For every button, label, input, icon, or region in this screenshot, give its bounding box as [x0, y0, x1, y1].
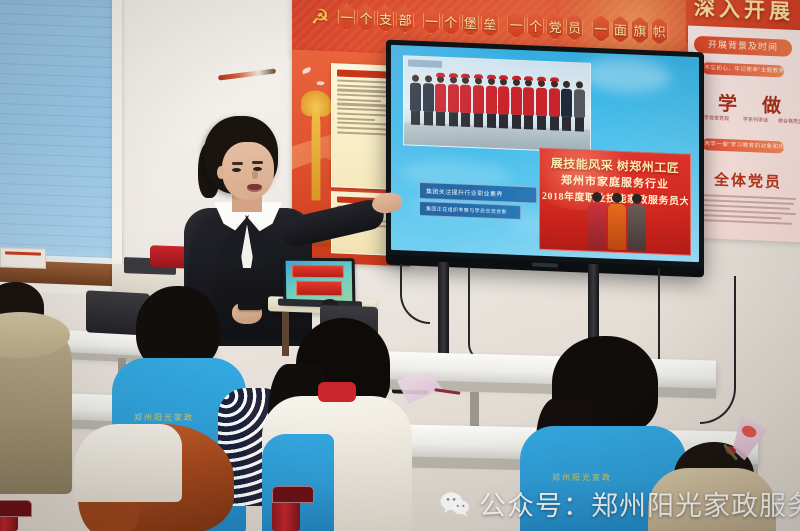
slogan-char: 党: [546, 12, 563, 40]
tv-screen: 展技能风采 树郑州工匠 郑州市家庭服务行业 2018年度职业技能家政服务员大赛 …: [391, 45, 699, 262]
window-blind: [0, 0, 118, 286]
slogan-char: 旗: [631, 16, 648, 44]
red-thermos-2: [0, 500, 18, 531]
poster-subhead: 全体党员: [702, 168, 794, 193]
slogan-char: 一: [507, 11, 524, 39]
vest-text-2: 郑州阳光家政: [552, 472, 612, 483]
slogan-char: 支: [377, 5, 394, 33]
poster-paragraph: [696, 194, 800, 228]
slogan-char: 帜: [651, 17, 668, 45]
right-banner-headline: 深入开展: [694, 0, 794, 26]
presenter-mouth: [247, 184, 262, 192]
window-frame: [112, 0, 122, 290]
slogan-char: 垒: [481, 10, 498, 38]
right-wall-poster: 开展背景及时间 “不忘初心、牢记使命”主题教育 学 做 学党章党规 学系列讲话 …: [688, 25, 800, 242]
slogan-char: 部: [396, 6, 413, 34]
poster-small-2: 学系列讲话: [743, 116, 768, 124]
white-fleece-shoulder: [74, 424, 182, 502]
cable-far-right: [700, 276, 736, 424]
laptop-screen: [286, 261, 353, 302]
poster-big-char-1: 学: [718, 89, 737, 117]
cable-mid: [468, 268, 486, 362]
vest-text-1: 郑州阳光家政: [134, 412, 194, 423]
slogan-char: 堡: [462, 9, 479, 37]
television-display[interactable]: 展技能风采 树郑州工匠 郑州市家庭服务行业 2018年度职业技能家政服务员大赛 …: [386, 40, 704, 275]
tan-coat: [648, 468, 776, 531]
flower-bouquet-1: [396, 369, 459, 409]
red-scarf: [318, 382, 356, 402]
wall-notice-paper: [0, 247, 46, 269]
poster-small-3: 做合格党员: [778, 117, 800, 125]
slogan-char: 一: [423, 7, 440, 35]
poster-big-char-2: 做: [762, 91, 781, 119]
slogan-char: 一: [592, 15, 609, 43]
poster-small-1: 学党章党规: [704, 114, 729, 122]
poster-header-bar: 开展背景及时间: [694, 36, 792, 57]
slogan-char: 个: [527, 12, 544, 40]
presentation-clicker[interactable]: [238, 298, 262, 310]
slogan-char: 面: [612, 15, 629, 43]
photo-scene: ☭ 一个支部一个堡垒一个党员一面旗帜 永远跟党走 不忘初心 深入开展: [0, 0, 800, 531]
slogan-char: 一: [338, 3, 355, 31]
poster-pill-1: “不忘初心、牢记使命”主题教育: [702, 62, 784, 77]
slogan-char: 员: [566, 13, 583, 41]
poster-pill-2: “两学一做”学习教育的对象和内容: [702, 138, 784, 153]
slogan-char: 个: [357, 4, 374, 32]
party-emblem-icon: ☭: [308, 6, 332, 31]
laptop[interactable]: [283, 258, 356, 305]
presenter-face: [222, 142, 274, 200]
red-thermos: [272, 486, 300, 531]
slogan-char: 个: [442, 8, 459, 36]
